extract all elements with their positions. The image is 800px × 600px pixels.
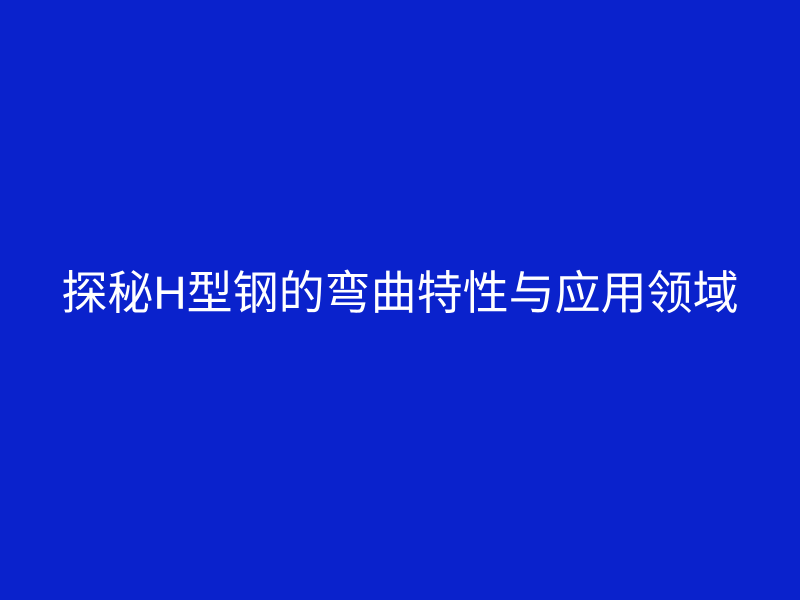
title-block: 探秘H型钢的弯曲特性与应用领域 (0, 0, 800, 600)
page-title: 探秘H型钢的弯曲特性与应用领域 (61, 266, 738, 320)
title-slide: 探秘H型钢的弯曲特性与应用领域 (0, 0, 800, 600)
